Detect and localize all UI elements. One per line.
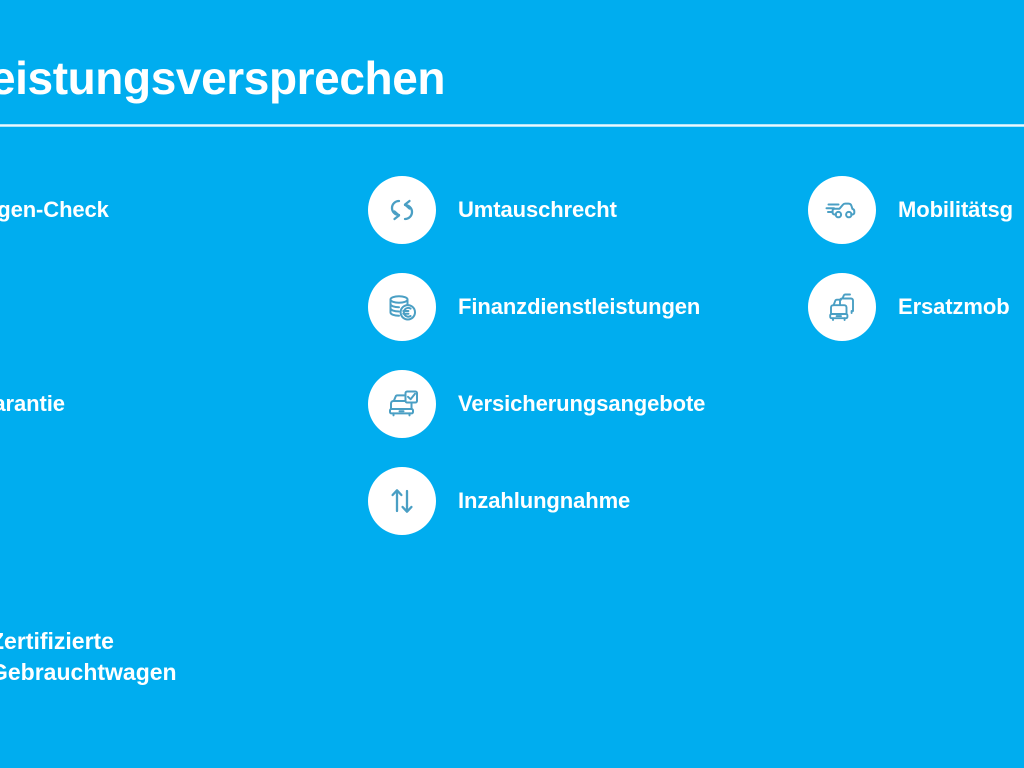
benefit-item[interactable]: Ersatzmob <box>808 273 1010 341</box>
certified-used-cars-logo: Zertifizierte Gebrauchtwagen <box>0 626 390 687</box>
benefit-item[interactable]: ebrauchtwagengarantie <box>0 370 65 438</box>
benefit-label: Umtauschrecht <box>458 198 617 222</box>
benefit-label: Inzahlungnahme <box>458 489 630 513</box>
benefit-label: Ersatzmob <box>898 295 1010 319</box>
two-cars-icon <box>808 273 876 341</box>
benefit-label: 60° Gebrauchtwagen-Check <box>0 198 109 222</box>
benefit-item[interactable]: Versicherungsangebote <box>368 370 705 438</box>
banner-stage: ere Leistungsversprechen 60° Gebrauchtwa… <box>0 0 1024 768</box>
benefit-label: Versicherungsangebote <box>458 392 705 416</box>
car-checkmark-icon <box>368 370 436 438</box>
benefit-item[interactable]: Mobilitätsg <box>808 176 1013 244</box>
benefit-item[interactable]: Inzahlungnahme <box>368 467 630 535</box>
title-divider-rule <box>0 124 1024 127</box>
benefits-grid: 60° Gebrauchtwagen-Check ualitätszertifi… <box>0 150 1024 570</box>
page-title: ere Leistungsversprechen <box>0 52 1024 105</box>
benefit-item[interactable]: Finanzdienstleistungen <box>368 273 700 341</box>
logo-line-1: Zertifizierte <box>0 626 390 657</box>
benefit-item[interactable]: 60° Gebrauchtwagen-Check <box>0 176 109 244</box>
car-speedlines-icon <box>808 176 876 244</box>
benefit-label: Finanzdienstleistungen <box>458 295 700 319</box>
benefit-item[interactable]: Umtauschrecht <box>368 176 617 244</box>
benefit-label: ebrauchtwagengarantie <box>0 392 65 416</box>
benefit-label: Mobilitätsg <box>898 198 1013 222</box>
page-title-block: ere Leistungsversprechen <box>0 52 1024 105</box>
logo-line-2: Gebrauchtwagen <box>0 657 390 688</box>
exchange-arrows-icon <box>368 176 436 244</box>
up-down-arrows-icon <box>368 467 436 535</box>
coins-euro-icon <box>368 273 436 341</box>
